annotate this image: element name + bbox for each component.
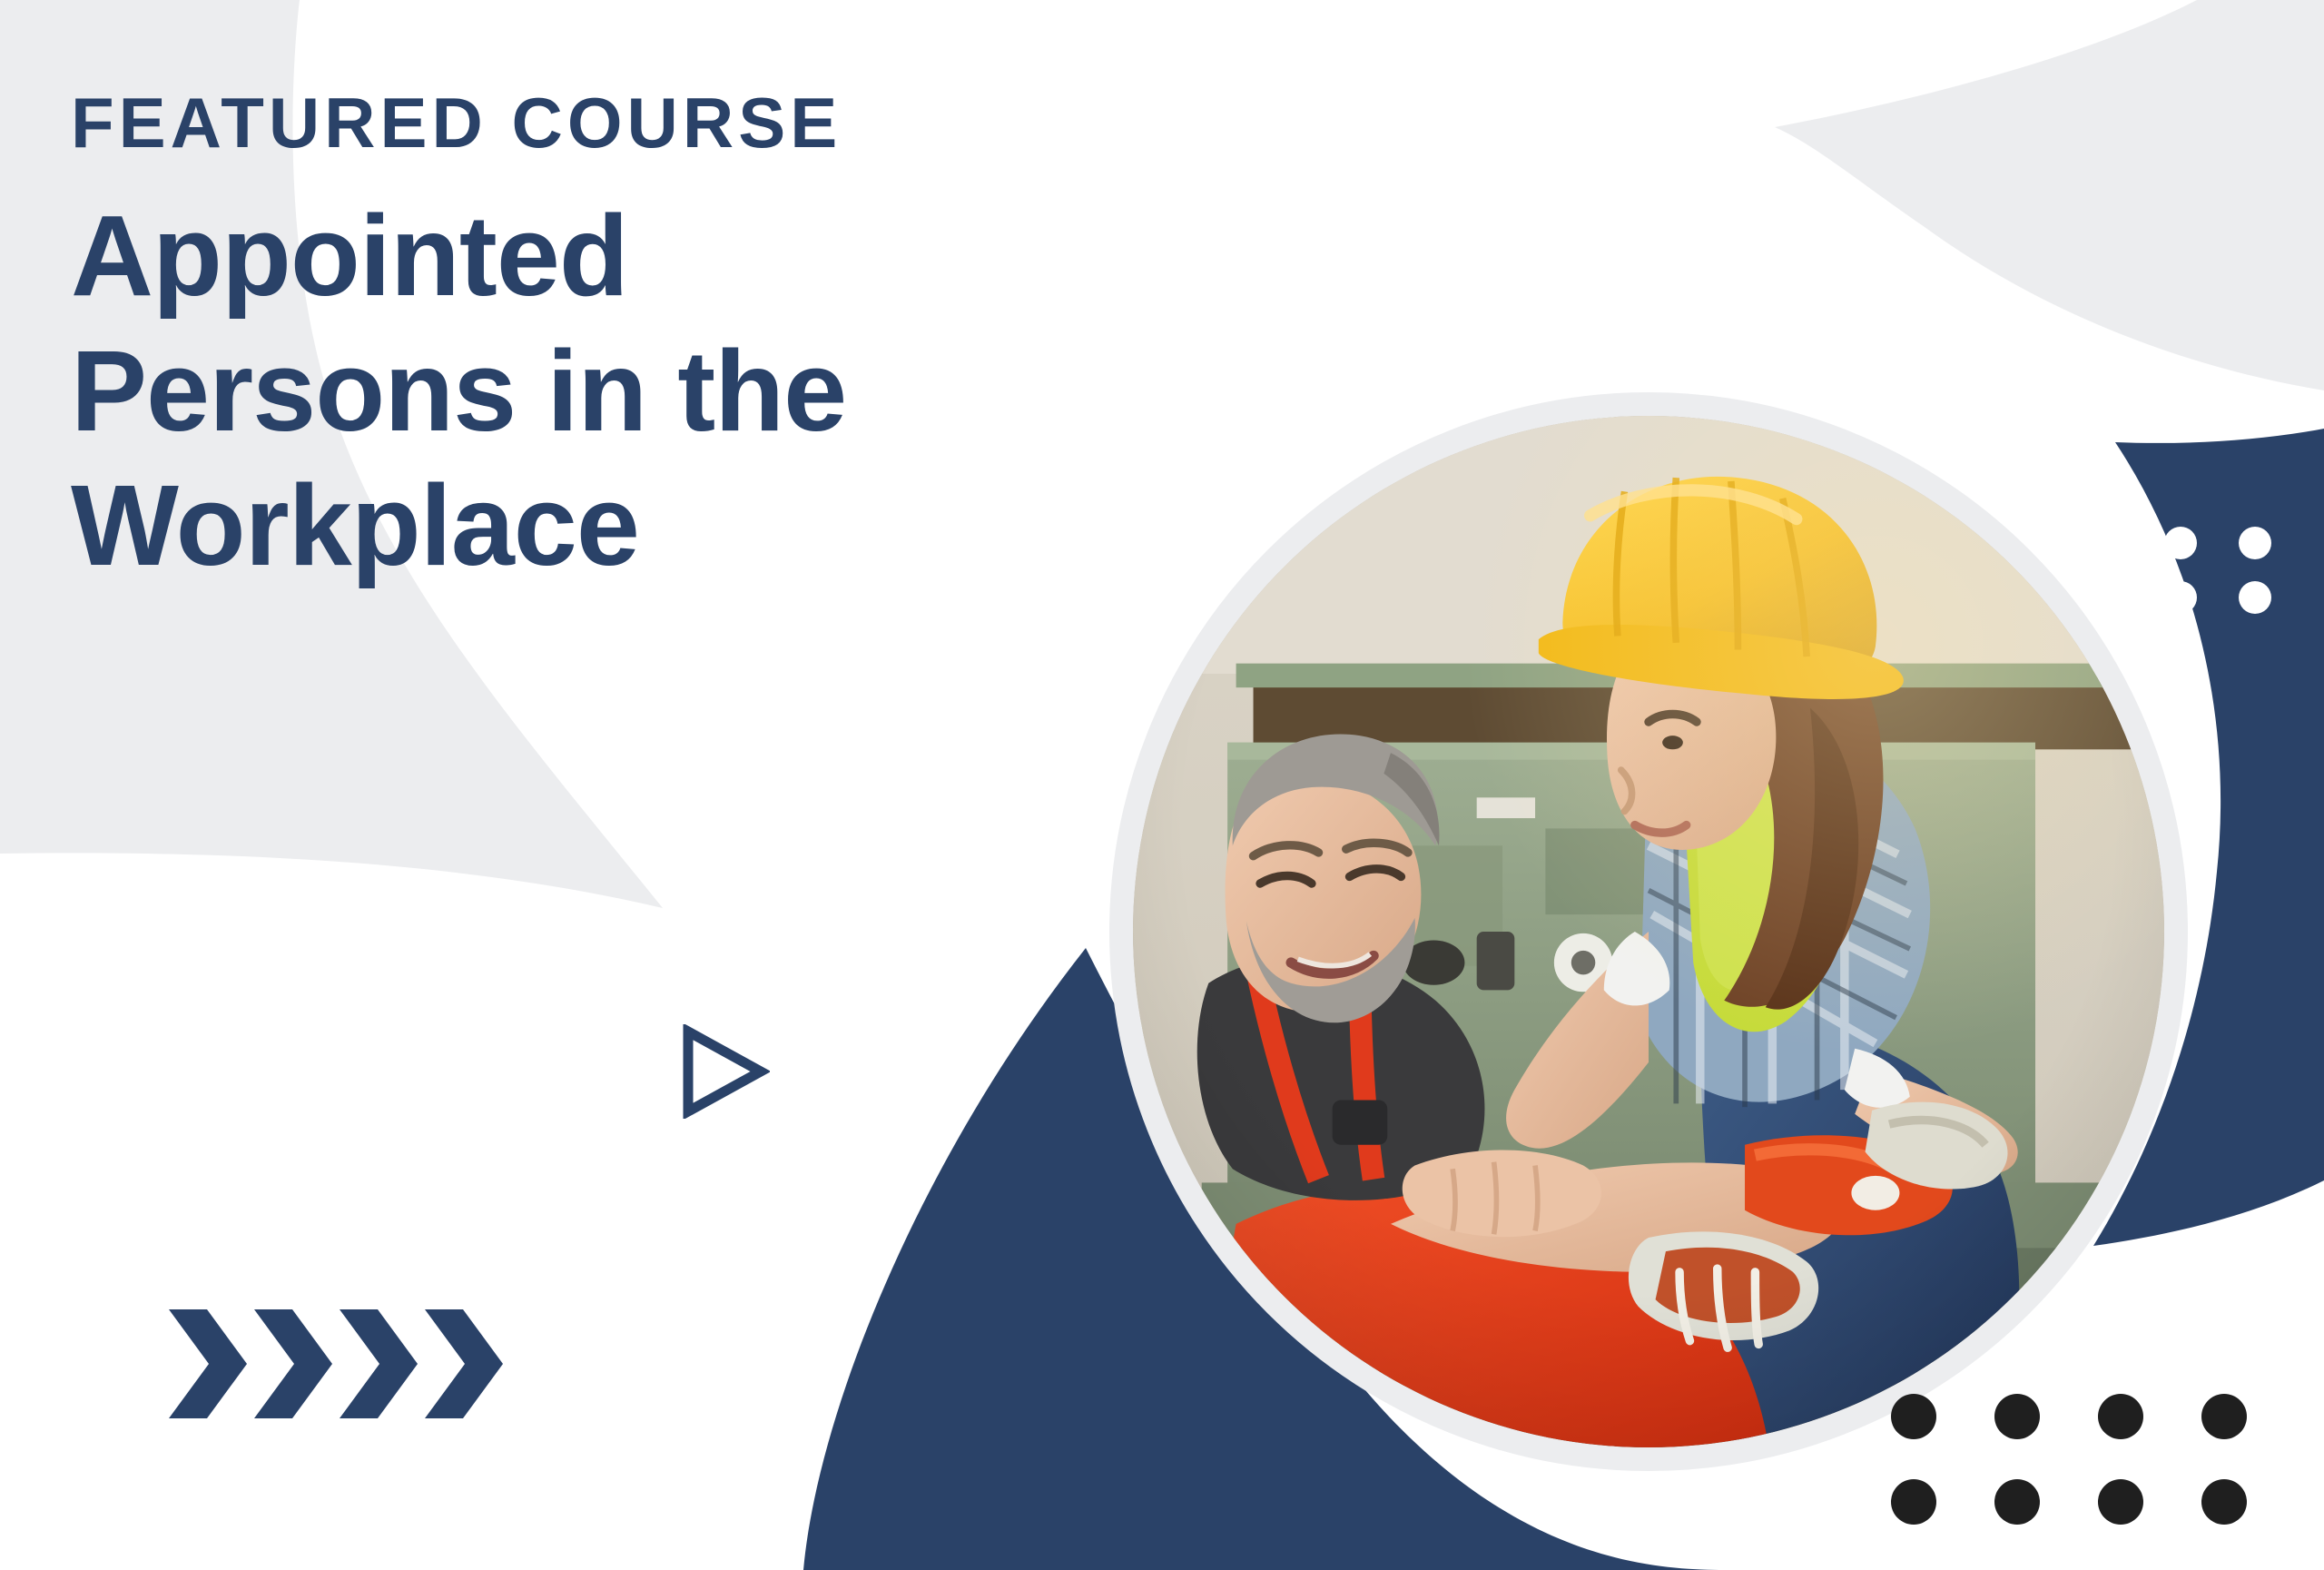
headline-line-1: Appointed [71,189,1269,324]
page-title: Appointed Persons in the Workplace [71,189,1269,594]
dark-dot [2201,1394,2247,1439]
chevron-right-icon [254,1309,332,1418]
navy-dot [2164,527,2197,559]
gray-crescent-top-right [1775,0,2324,390]
promo-banner: FEATURED COURSE Appointed Persons in the… [0,0,2324,1570]
navy-dot [2090,527,2122,559]
dark-dot [1994,1479,2040,1525]
dark-dot [1891,1394,1936,1439]
headline-line-3: Workplace [71,459,1269,594]
dot-grid-bottom-right [1890,1389,2271,1526]
course-text-block: FEATURED COURSE Appointed Persons in the… [71,87,1360,594]
navy-dot [2239,527,2271,559]
navy-dot [2090,581,2122,614]
dark-dot [1891,1479,1936,1525]
chevron-right-icon [169,1309,247,1418]
navy-dot [2164,581,2197,614]
dark-dot [1994,1394,2040,1439]
dark-dot [2098,1479,2143,1525]
eyebrow-label: FEATURED COURSE [71,87,1360,158]
dark-dot [2201,1479,2247,1525]
play-triangle-icon[interactable] [675,1024,770,1119]
headline-line-2: Persons in the [71,324,1269,459]
chevron-right-icon [340,1309,418,1418]
chevron-right-icon [425,1309,503,1418]
chevron-arrows [165,1306,547,1422]
navy-dot [2239,581,2271,614]
dark-dot [2098,1394,2143,1439]
